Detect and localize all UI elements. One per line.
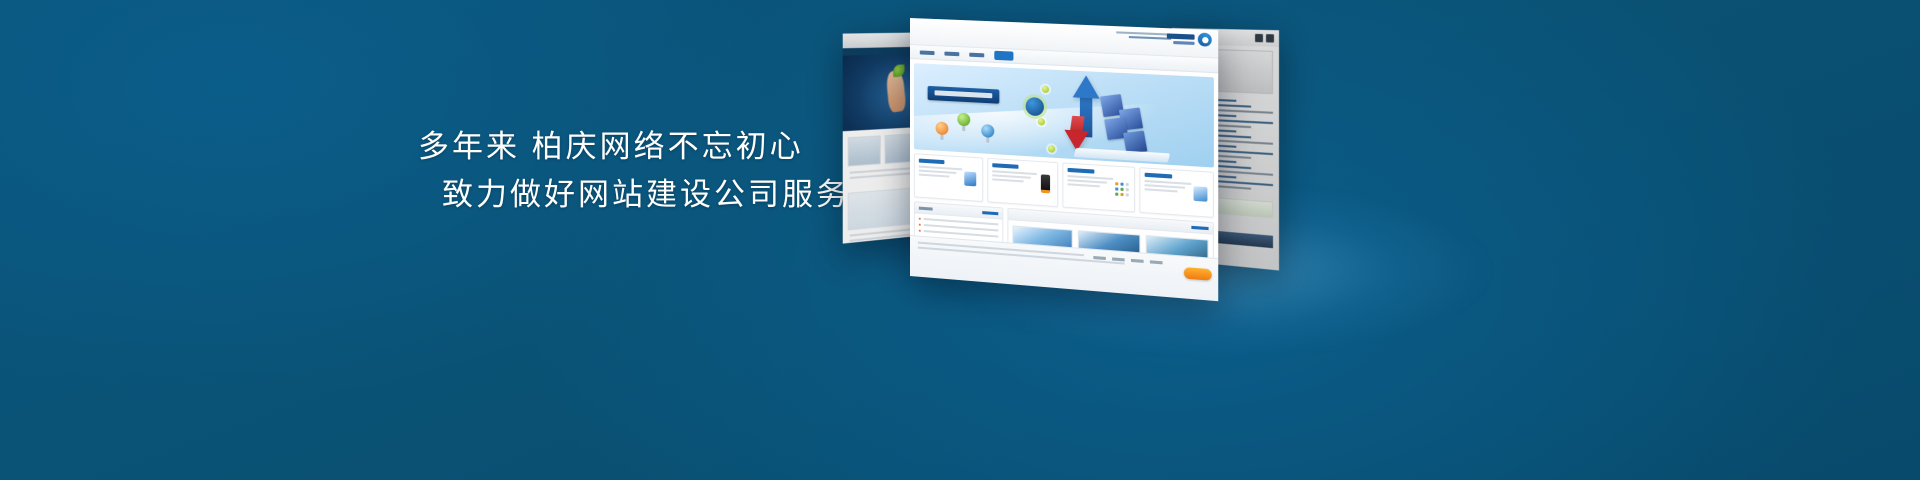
headline-line-1: 多年来 柏庆网络不忘初心 — [0, 126, 760, 168]
feature-title — [1068, 168, 1095, 174]
feature-title — [1145, 173, 1173, 179]
footer-link[interactable] — [1131, 259, 1144, 263]
nav-item-news-active[interactable] — [994, 51, 1013, 61]
feature-card-promotion[interactable] — [1062, 162, 1135, 212]
news-title — [919, 206, 933, 210]
feature-card-hosting[interactable] — [1139, 167, 1214, 218]
hero-banner: 多年来 柏庆网络不忘初心 致力做好网站建设公司服务 — [0, 0, 1920, 480]
feature-card-website[interactable] — [914, 153, 983, 202]
site-logo — [1167, 31, 1212, 46]
swirl-icon — [1198, 33, 1212, 47]
hero-banner-image — [914, 63, 1214, 167]
feature-text — [1145, 173, 1192, 211]
node-icon — [1048, 145, 1055, 153]
masthead-icon — [1255, 34, 1263, 42]
globe-figure-green — [957, 113, 970, 131]
feature-text — [919, 159, 962, 196]
news-more-link[interactable] — [982, 211, 998, 215]
nav-item-cases[interactable] — [969, 52, 984, 57]
qq-chat-button[interactable] — [1184, 267, 1212, 281]
globe-figure-orange — [936, 121, 949, 139]
header-tagline — [1116, 31, 1171, 39]
nav-item-about[interactable] — [944, 51, 959, 56]
feature-card-mobile[interactable] — [987, 158, 1058, 207]
globe-badge-icon — [1026, 97, 1044, 116]
logo-wordmark — [1167, 33, 1195, 45]
works-title — [1191, 225, 1208, 229]
dots-icon — [1115, 182, 1129, 196]
feature-title — [992, 163, 1018, 169]
panel-center-screenshot — [910, 18, 1218, 301]
feature-title — [919, 159, 945, 165]
screenshot-collage — [800, 0, 1920, 480]
node-icon — [1038, 118, 1045, 126]
hero-label-box — [928, 86, 1000, 104]
masthead-icon — [1266, 34, 1274, 42]
product-thumb — [848, 135, 881, 166]
nav-item-home[interactable] — [920, 50, 935, 55]
feature-text — [1068, 168, 1114, 206]
feature-icon-slot — [1037, 166, 1053, 202]
arrow-up-icon — [1073, 75, 1100, 99]
globe-figure-blue — [981, 124, 994, 142]
headline-line-2: 致力做好网站建设公司服务 — [0, 174, 760, 216]
sprout-icon — [893, 65, 904, 78]
footer-link[interactable] — [1150, 260, 1163, 264]
headline-block: 多年来 柏庆网络不忘初心 致力做好网站建设公司服务 — [0, 126, 760, 216]
node-icon — [1042, 86, 1049, 94]
text-line — [850, 172, 913, 179]
feature-icon-slot — [1113, 171, 1130, 207]
feature-icon-slot — [1191, 176, 1208, 213]
folder-icon — [964, 171, 976, 186]
feature-text — [992, 163, 1037, 200]
phone-icon — [1040, 174, 1049, 193]
tablet-icon — [1193, 186, 1207, 202]
feature-icon-slot — [962, 161, 978, 196]
